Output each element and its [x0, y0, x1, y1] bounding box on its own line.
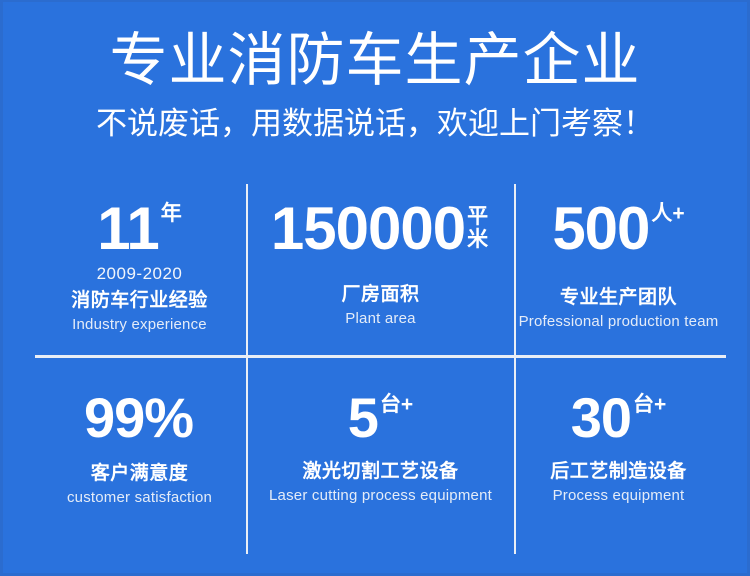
stat-cell-laser-cutting-equipment: 5 台+ 激光切割工艺设备 Laser cutting process equi… — [247, 356, 514, 555]
page-title: 专业消防车生产企业 — [3, 2, 747, 94]
stat-year-range: 2009-2020 — [97, 263, 183, 284]
stat-label-cn: 消防车行业经验 — [71, 288, 208, 313]
stats-grid: 11 年 2009-2020 消防车行业经验 Industry experien… — [32, 180, 723, 555]
stat-label-cn: 专业生产团队 — [560, 285, 677, 310]
stat-unit: 台+ — [631, 389, 666, 417]
stat-unit: 年 — [159, 198, 182, 226]
stat-cell-process-equipment: 30 台+ 后工艺制造设备 Process equipment — [514, 356, 723, 555]
stat-label-cn: 后工艺制造设备 — [550, 459, 687, 484]
stat-label-en: customer satisfaction — [67, 488, 212, 508]
stat-number-line: 99% — [84, 389, 195, 447]
stat-label-en: Professional production team — [519, 312, 719, 332]
stat-number-line: 30 台+ — [571, 389, 667, 447]
stat-number: 30 — [571, 389, 631, 447]
stat-label-en: Laser cutting process equipment — [269, 486, 492, 506]
stat-number: 5 — [348, 389, 378, 447]
stat-number: 500 — [552, 198, 649, 260]
banner-header: 专业消防车生产企业 不说废话，用数据说话，欢迎上门考察！ — [3, 2, 747, 143]
stat-number-line: 500 人+ — [552, 198, 684, 260]
stat-number-line: 150000 平 米 — [271, 198, 490, 260]
stat-label-en: Industry experience — [72, 315, 207, 335]
stat-unit: 平 米 — [465, 198, 490, 251]
stat-label-cn: 激光切割工艺设备 — [302, 459, 458, 484]
stat-label-cn: 客户满意度 — [91, 461, 189, 486]
stat-unit: 人+ — [649, 198, 684, 226]
stat-label-en: Plant area — [345, 309, 415, 329]
stat-number-line: 5 台+ — [348, 389, 413, 447]
stat-number: 11 — [97, 198, 158, 260]
stat-number: 99% — [84, 389, 193, 447]
stat-label-cn: 厂房面积 — [341, 282, 419, 307]
stat-unit — [193, 389, 195, 393]
stat-cell-customer-satisfaction: 99% 客户满意度 customer satisfaction — [32, 356, 247, 555]
stat-unit: 台+ — [378, 389, 413, 417]
stat-number: 150000 — [271, 198, 465, 260]
stat-cell-industry-experience: 11 年 2009-2020 消防车行业经验 Industry experien… — [32, 180, 247, 356]
stat-label-en: Process equipment — [553, 486, 685, 506]
stat-cell-production-team: 500 人+ 专业生产团队 Professional production te… — [514, 180, 723, 356]
promo-banner: 专业消防车生产企业 不说废话，用数据说话，欢迎上门考察！ 11 年 2009-2… — [0, 0, 750, 576]
stat-cell-plant-area: 150000 平 米 厂房面积 Plant area — [247, 180, 514, 356]
page-subtitle: 不说废话，用数据说话，欢迎上门考察！ — [3, 94, 747, 143]
stat-number-line: 11 年 — [97, 198, 181, 260]
